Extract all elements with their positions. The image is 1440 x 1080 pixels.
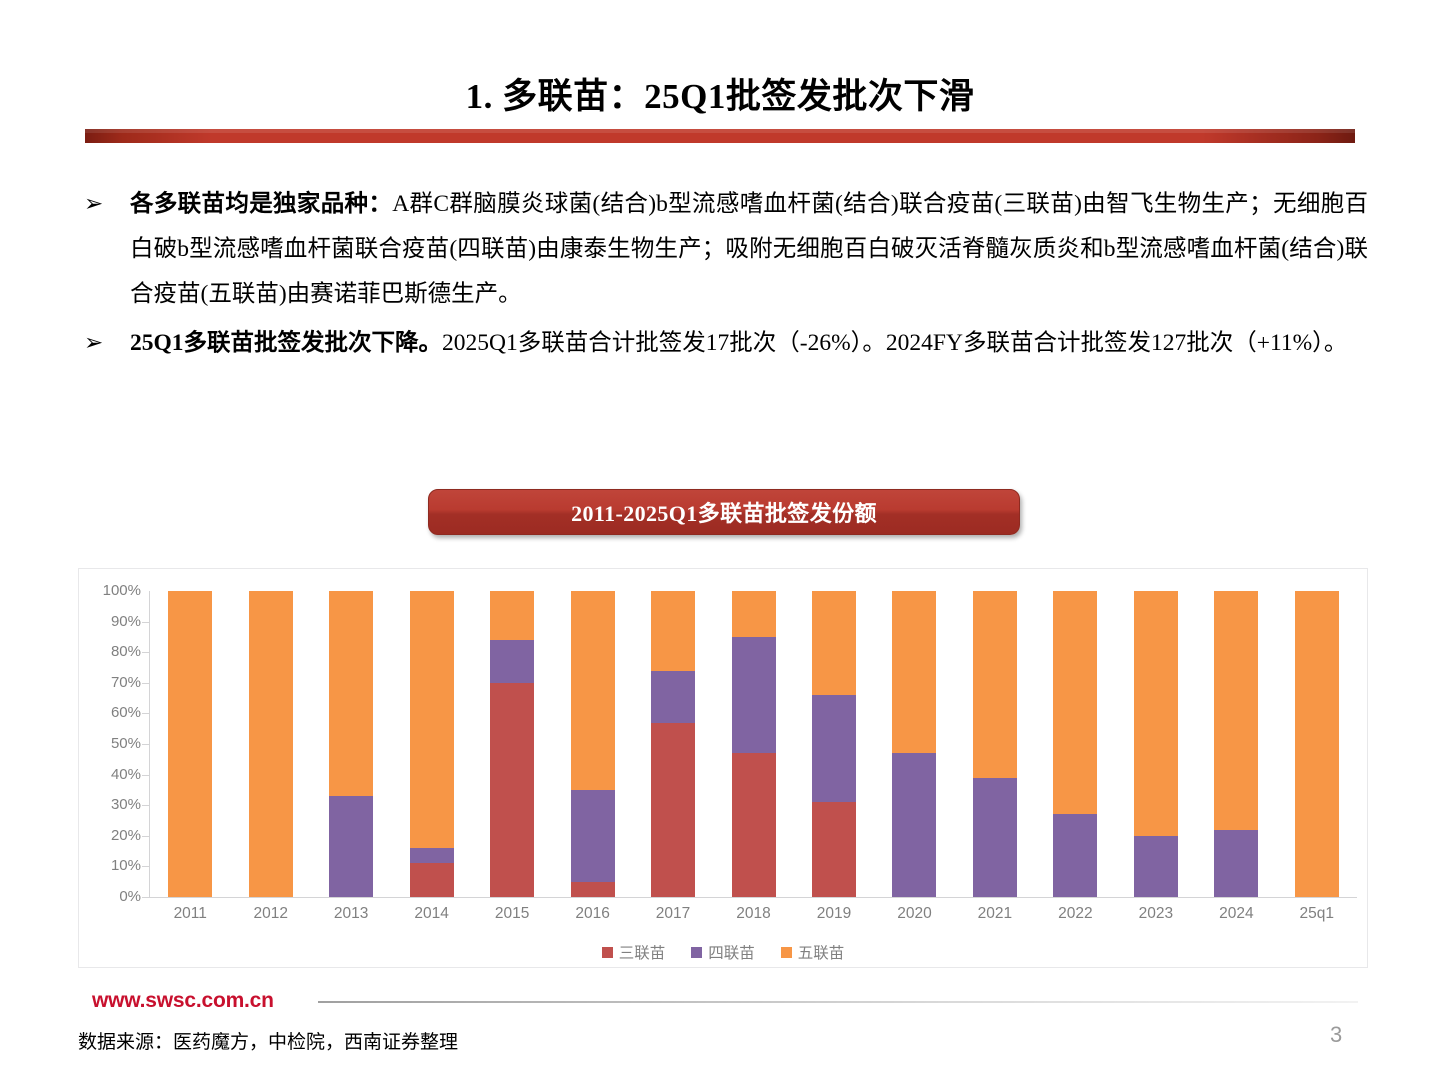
x-axis-tick-label: 2018	[713, 905, 793, 923]
bar-stack	[490, 591, 534, 897]
legend-swatch-icon	[602, 947, 613, 958]
bar-stack	[1053, 591, 1097, 897]
bar-stack	[410, 591, 454, 897]
bullet-marker-icon: ➢	[78, 321, 130, 365]
y-axis-tick-label: 100%	[81, 582, 141, 599]
x-axis-tick-label: 2023	[1116, 905, 1196, 923]
bar-stack	[1134, 591, 1178, 897]
y-axis-tick	[142, 836, 149, 837]
bar-segment[interactable]	[732, 637, 776, 753]
page-number: 3	[1330, 1022, 1342, 1048]
legend-swatch-icon	[781, 947, 792, 958]
bar-column[interactable]	[552, 591, 632, 897]
chart-title-label: 2011-2025Q1多联苗批签发份额	[571, 496, 877, 528]
bar-segment[interactable]	[329, 591, 373, 796]
bar-column[interactable]	[874, 591, 954, 897]
bar-segment[interactable]	[1295, 591, 1339, 897]
bar-stack	[1295, 591, 1339, 897]
bar-segment[interactable]	[1053, 814, 1097, 897]
y-axis-tick	[142, 805, 149, 806]
bar-segment[interactable]	[490, 640, 534, 683]
bar-segment[interactable]	[1053, 591, 1097, 814]
bullet-lead: 25Q1多联苗批签发批次下降。	[130, 330, 442, 356]
bar-column[interactable]	[472, 591, 552, 897]
bullet-marker-icon: ➢	[78, 182, 130, 226]
bullet-text: 25Q1多联苗批签发批次下降。2025Q1多联苗合计批签发17批次（-26%）。…	[130, 321, 1368, 366]
x-axis-tick-label: 2016	[552, 905, 632, 923]
bullet-item: ➢ 25Q1多联苗批签发批次下降。2025Q1多联苗合计批签发17批次（-26%…	[78, 321, 1368, 366]
bullet-body: 2025Q1多联苗合计批签发17批次（-26%）。2024FY多联苗合计批签发1…	[442, 330, 1347, 356]
bar-column[interactable]	[391, 591, 471, 897]
bar-segment[interactable]	[973, 778, 1017, 897]
x-axis-tick-label: 2020	[874, 905, 954, 923]
footer-website-url[interactable]: www.swsc.com.cn	[92, 989, 274, 1013]
bar-segment[interactable]	[651, 723, 695, 897]
chart-container: 100%90%80%70%60%50%40%30%20%10%0% 201120…	[78, 568, 1368, 968]
bar-column[interactable]	[794, 591, 874, 897]
bar-segment[interactable]	[571, 882, 615, 897]
bar-column[interactable]	[1277, 591, 1357, 897]
bar-column[interactable]	[955, 591, 1035, 897]
bar-column[interactable]	[230, 591, 310, 897]
bar-segment[interactable]	[410, 591, 454, 848]
legend-label: 五联苗	[798, 941, 845, 963]
bar-segment[interactable]	[490, 591, 534, 640]
bar-stack	[571, 591, 615, 897]
legend-label: 四联苗	[708, 941, 755, 963]
bar-segment[interactable]	[1134, 591, 1178, 836]
bar-segment[interactable]	[1214, 830, 1258, 897]
y-axis-tick	[142, 713, 149, 714]
legend-swatch-icon	[691, 947, 702, 958]
y-axis-tick-label: 60%	[81, 704, 141, 721]
bar-stack	[168, 591, 212, 897]
slide: 1. 多联苗：25Q1批签发批次下滑 ➢ 各多联苗均是独家品种：A群C群脑膜炎球…	[0, 0, 1440, 1080]
bullet-lead: 各多联苗均是独家品种：	[130, 191, 392, 217]
bar-segment[interactable]	[812, 802, 856, 897]
y-axis-tick-label: 20%	[81, 827, 141, 844]
y-axis-tick	[142, 775, 149, 776]
bar-segment[interactable]	[1214, 591, 1258, 830]
footer-divider	[318, 1001, 1358, 1003]
page-title: 1. 多联苗：25Q1批签发批次下滑	[0, 68, 1440, 119]
bar-column[interactable]	[633, 591, 713, 897]
x-axis-tick-label: 2015	[472, 905, 552, 923]
x-axis-tick-label: 2019	[794, 905, 874, 923]
bar-series-group	[150, 591, 1357, 897]
bar-stack	[651, 591, 695, 897]
x-axis-tick-label: 2011	[150, 905, 230, 923]
bar-stack	[812, 591, 856, 897]
bar-segment[interactable]	[410, 848, 454, 863]
bar-segment[interactable]	[651, 591, 695, 671]
y-axis-tick-label: 0%	[81, 888, 141, 905]
y-axis-tick	[142, 683, 149, 684]
x-axis-tick-label: 2013	[311, 905, 391, 923]
bar-segment[interactable]	[329, 796, 373, 897]
chart-legend: 三联苗四联苗五联苗	[79, 941, 1367, 963]
y-axis-tick	[142, 866, 149, 867]
title-underline-bar	[85, 129, 1355, 143]
x-axis-tick-label: 2012	[230, 905, 310, 923]
bar-segment[interactable]	[168, 591, 212, 897]
x-axis-labels: 2011201220132014201520162017201820192020…	[150, 905, 1357, 923]
bar-stack	[329, 591, 373, 897]
bar-segment[interactable]	[1134, 836, 1178, 897]
bar-column[interactable]	[1035, 591, 1115, 897]
bullet-text: 各多联苗均是独家品种：A群C群脑膜炎球菌(结合)b型流感嗜血杆菌(结合)联合疫苗…	[130, 182, 1368, 317]
legend-item[interactable]: 三联苗	[602, 941, 666, 963]
y-axis-tick-label: 50%	[81, 735, 141, 752]
bar-column[interactable]	[713, 591, 793, 897]
bar-column[interactable]	[1116, 591, 1196, 897]
bar-column[interactable]	[1196, 591, 1276, 897]
x-axis-tick-label: 2021	[955, 905, 1035, 923]
x-axis-tick-label: 2014	[391, 905, 471, 923]
bar-segment[interactable]	[571, 591, 615, 790]
bar-segment[interactable]	[249, 591, 293, 897]
bar-segment[interactable]	[812, 591, 856, 695]
y-axis-tick-label: 30%	[81, 796, 141, 813]
bar-segment[interactable]	[732, 591, 776, 637]
bar-stack	[973, 591, 1017, 897]
bar-stack	[732, 591, 776, 897]
bar-segment[interactable]	[490, 683, 534, 897]
bar-segment[interactable]	[571, 790, 615, 882]
y-axis-tick-label: 80%	[81, 643, 141, 660]
y-axis-tick-label: 10%	[81, 857, 141, 874]
bar-segment[interactable]	[812, 695, 856, 802]
bar-segment[interactable]	[651, 671, 695, 723]
y-axis-tick-label: 70%	[81, 674, 141, 691]
chart-title-banner: 2011-2025Q1多联苗批签发份额	[428, 489, 1020, 535]
y-axis-tick-label: 90%	[81, 613, 141, 630]
bar-segment[interactable]	[892, 753, 936, 897]
y-axis-tick	[142, 652, 149, 653]
x-axis-tick-label: 25q1	[1277, 905, 1357, 923]
legend-item[interactable]: 五联苗	[781, 941, 845, 963]
y-axis-tick	[142, 744, 149, 745]
bar-stack	[1214, 591, 1258, 897]
footer-data-source: 数据来源：医药魔方，中检院，西南证券整理	[78, 1027, 458, 1054]
x-axis-tick-label: 2022	[1035, 905, 1115, 923]
x-axis-tick-label: 2024	[1196, 905, 1276, 923]
bullet-item: ➢ 各多联苗均是独家品种：A群C群脑膜炎球菌(结合)b型流感嗜血杆菌(结合)联合…	[78, 182, 1368, 317]
bar-stack	[249, 591, 293, 897]
bar-segment[interactable]	[732, 753, 776, 897]
y-axis-tick-label: 40%	[81, 766, 141, 783]
bar-segment[interactable]	[892, 591, 936, 753]
bar-stack	[892, 591, 936, 897]
body-bullets: ➢ 各多联苗均是独家品种：A群C群脑膜炎球菌(结合)b型流感嗜血杆菌(结合)联合…	[78, 182, 1368, 370]
bar-segment[interactable]	[410, 863, 454, 897]
x-axis-tick-label: 2017	[633, 905, 713, 923]
bar-segment[interactable]	[973, 591, 1017, 778]
legend-item[interactable]: 四联苗	[691, 941, 755, 963]
legend-label: 三联苗	[619, 941, 666, 963]
y-axis-labels: 100%90%80%70%60%50%40%30%20%10%0%	[79, 591, 141, 897]
y-axis-tick	[142, 897, 149, 898]
bar-column[interactable]	[311, 591, 391, 897]
x-axis-line	[149, 897, 1357, 898]
bar-column[interactable]	[150, 591, 230, 897]
y-axis-tick	[142, 622, 149, 623]
